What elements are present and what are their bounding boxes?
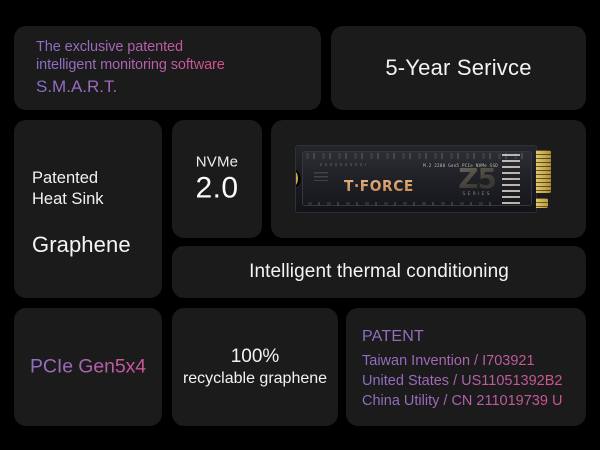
card-heat-sink: Patented Heat Sink Graphene [14, 120, 162, 298]
warranty-label: 5-Year Serivce [331, 55, 586, 81]
card-warranty: 5-Year Serivce [331, 26, 586, 110]
smart-line-2: intelligent monitoring software [36, 57, 225, 75]
card-smart-software: The exclusive patented intelligent monit… [14, 26, 321, 110]
ssd-series-block: Z5 SERIES [458, 166, 496, 197]
card-nvme: NVMe 2.0 [172, 120, 262, 238]
ssd-illustration: M.2 2280 Gen5 PCIe NVMe SSD T·FORCE Z5 S… [296, 146, 564, 212]
ssd-mount-notch [296, 170, 301, 187]
patent-entry-taiwan: Taiwan Invention / I703921 [362, 351, 562, 371]
recycle-description: recyclable graphene [172, 369, 338, 388]
heat-sink-line-2: Heat Sink [32, 189, 131, 210]
card-product-image: M.2 2280 Gen5 PCIe NVMe SSD T·FORCE Z5 S… [271, 120, 586, 238]
ssd-heat-spreader [302, 151, 532, 206]
patent-entry-china: China Utility / CN 211019739 U [362, 391, 562, 411]
heat-sink-material: Graphene [32, 232, 131, 258]
card-recyclable-graphene: 100% recyclable graphene [172, 308, 338, 426]
ssd-series-word: SERIES [458, 192, 496, 197]
patent-entry-united-states: United States / US11051392B2 [362, 371, 562, 391]
thermal-label: Intelligent thermal conditioning [172, 261, 586, 283]
nvme-label: NVMe [172, 153, 262, 170]
patent-title: PATENT [362, 328, 562, 346]
ssd-gold-connector-secondary [536, 198, 548, 208]
heat-sink-text-block: Patented Heat Sink Graphene [32, 168, 131, 258]
recycle-text-block: 100% recyclable graphene [172, 346, 338, 388]
ssd-microtext-block [314, 172, 328, 181]
ssd-brand-logo: T·FORCE [344, 177, 414, 195]
smart-text-block: The exclusive patented intelligent monit… [36, 39, 225, 97]
pcie-label: PCIe Gen5x4 [14, 356, 162, 379]
ssd-label-hatch [320, 163, 366, 166]
smart-line-1: The exclusive patented [36, 39, 225, 57]
heat-sink-line-1: Patented [32, 168, 131, 189]
smart-acronym: S.M.A.R.T. [36, 76, 225, 97]
nvme-version: 2.0 [172, 172, 262, 204]
recycle-percent: 100% [172, 346, 338, 369]
ssd-top-detail-strip [306, 153, 524, 159]
card-thermal-conditioning: Intelligent thermal conditioning [172, 246, 586, 298]
card-pcie-interface: PCIe Gen5x4 [14, 308, 162, 426]
patent-text-block: PATENT Taiwan Invention / I703921 United… [362, 328, 562, 411]
ssd-component-grid-secondary [512, 154, 520, 204]
ssd-gold-connector-main [536, 150, 551, 193]
ssd-bottom-detail-strip [308, 202, 498, 206]
feature-grid: The exclusive patented intelligent monit… [0, 0, 600, 450]
card-patent: PATENT Taiwan Invention / I703921 United… [346, 308, 586, 426]
ssd-pcb: M.2 2280 Gen5 PCIe NVMe SSD T·FORCE Z5 S… [296, 146, 536, 212]
nvme-text-block: NVMe 2.0 [172, 153, 262, 204]
ssd-series-code: Z5 [458, 166, 496, 193]
